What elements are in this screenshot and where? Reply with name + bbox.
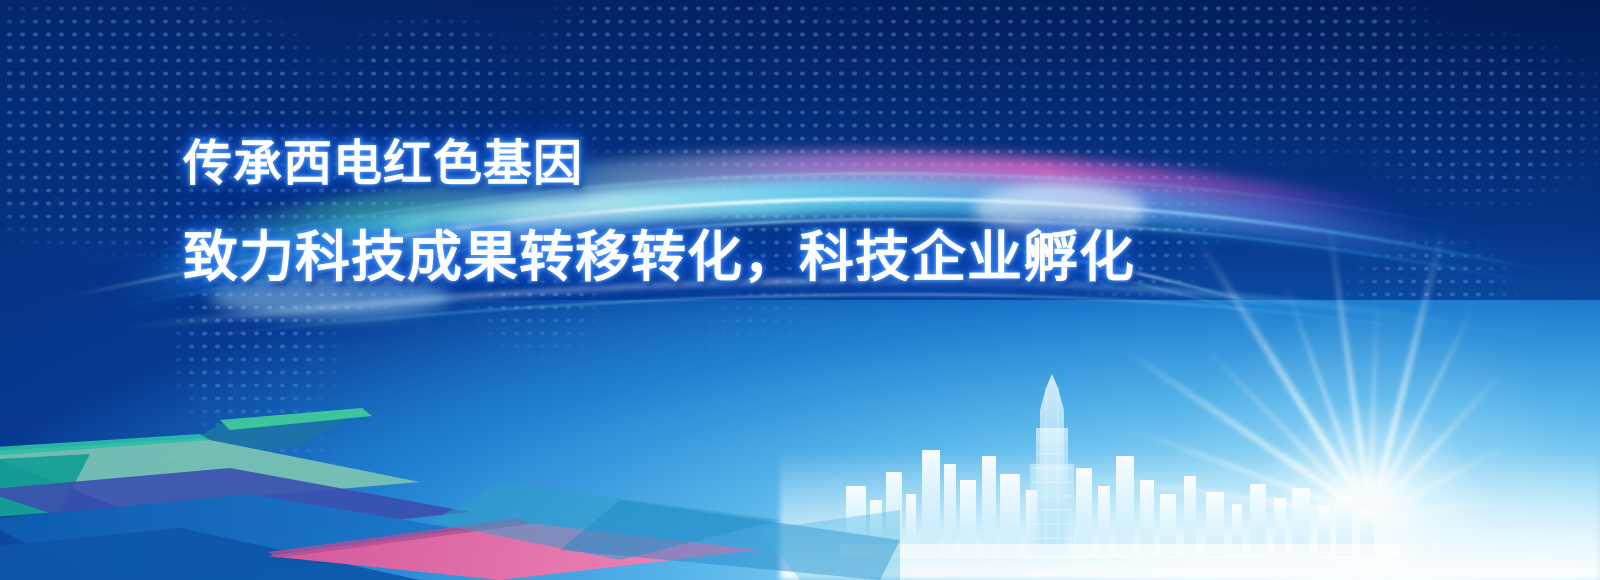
headline-line-1: 传承西电红色基因 [183, 138, 1283, 189]
headline-line-2: 致力科技成果转移转化，科技企业孵化 [183, 229, 1283, 287]
angular-geometric-shards [0, 390, 900, 580]
city-skyline-silhouette [840, 368, 1400, 558]
headline-block: 传承西电红色基因 致力科技成果转移转化，科技企业孵化 [183, 138, 1283, 287]
hero-banner: 传承西电红色基因 致力科技成果转移转化，科技企业孵化 [0, 0, 1600, 580]
